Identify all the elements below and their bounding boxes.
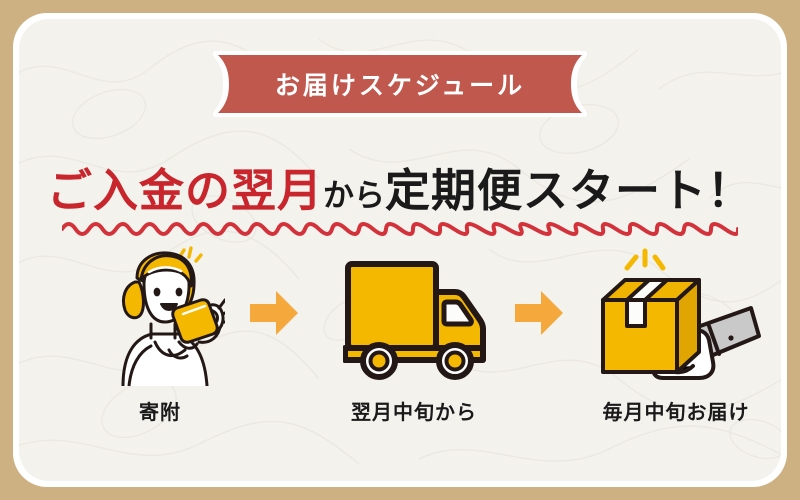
banner-title: お届けスケジュール	[196, 51, 604, 117]
schedule-banner: お届けスケジュール	[196, 51, 604, 117]
headline-wavy-underline-icon	[62, 218, 738, 236]
delivery-flow: 寄附	[19, 246, 781, 446]
hand-holding-box-icon	[581, 248, 761, 388]
flow-step-label-truck: 翌月中旬から	[319, 396, 509, 425]
flow-step-delivery: 毎月中旬お届け	[571, 246, 781, 431]
headline-highlight: ご入金の翌月	[47, 165, 323, 216]
headline-connector: から	[323, 178, 385, 213]
headline-rest: 定期便スタート！	[385, 165, 753, 216]
arrow-right-icon	[248, 289, 300, 337]
person-with-smartphone-icon	[95, 246, 225, 386]
flow-step-label-delivery: 毎月中旬お届け	[571, 396, 781, 425]
flow-step-label-donation: 寄附	[95, 396, 225, 425]
flow-step-donation: 寄附	[95, 246, 225, 431]
poster-root: お届けスケジュール ご入金の翌月から定期便スタート！	[0, 0, 800, 500]
delivery-truck-icon	[343, 258, 489, 380]
arrow-right-icon	[513, 289, 565, 337]
flow-step-truck: 翌月中旬から	[319, 246, 509, 431]
headline: ご入金の翌月から定期便スタート！	[0, 168, 800, 213]
